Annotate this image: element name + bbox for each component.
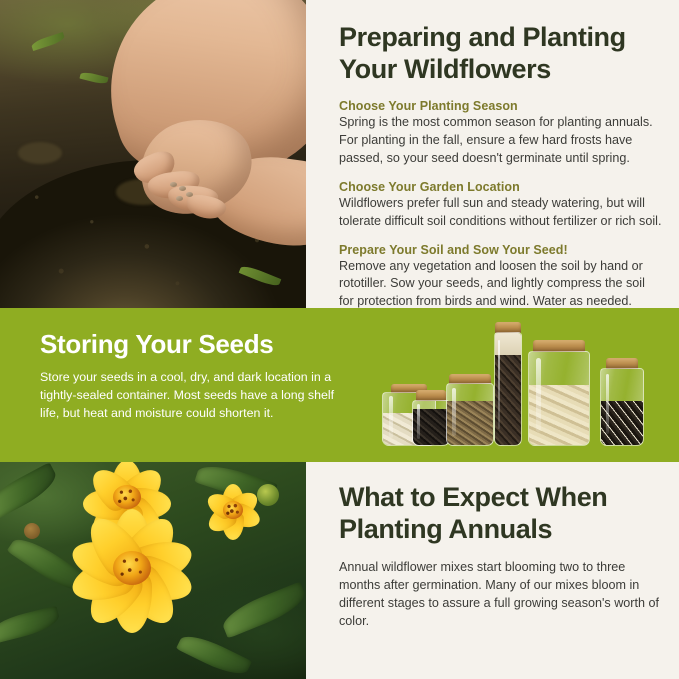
storing-seeds-band: Storing Your Seeds Store your seeds in a… bbox=[0, 308, 679, 462]
glass-highlight bbox=[606, 374, 610, 435]
flower-center bbox=[223, 501, 243, 519]
sowing-seeds-photo bbox=[0, 0, 306, 308]
jar-black-seeds bbox=[412, 390, 450, 446]
expect-panel: What to Expect When Planting Annuals Ann… bbox=[306, 462, 679, 679]
infographic-page: Preparing and Planting Your Wildflowers … bbox=[0, 0, 679, 679]
glass-highlight bbox=[536, 358, 541, 432]
glass-highlight bbox=[452, 388, 456, 437]
disc-florets bbox=[113, 551, 151, 585]
seed-jars-photo bbox=[378, 318, 668, 452]
jar-glass bbox=[528, 351, 590, 446]
storing-body: Store your seeds in a cool, dry, and dar… bbox=[40, 369, 340, 423]
main-bloom bbox=[44, 506, 220, 656]
expect-heading: What to Expect When Planting Annuals bbox=[339, 482, 661, 545]
leaf bbox=[219, 581, 306, 638]
subheading-prepare-soil: Prepare Your Soil and Sow Your Seed! bbox=[339, 243, 663, 257]
jar-glass bbox=[494, 332, 522, 446]
body-prepare-soil: Remove any vegetation and loosen the soi… bbox=[339, 258, 663, 308]
storing-text-group: Storing Your Seeds Store your seeds in a… bbox=[40, 330, 340, 423]
flower-bud bbox=[24, 523, 40, 539]
foliage-background bbox=[0, 462, 306, 679]
storing-heading: Storing Your Seeds bbox=[40, 330, 340, 359]
seed bbox=[170, 182, 177, 187]
seed bbox=[186, 192, 193, 197]
glass-highlight bbox=[498, 340, 500, 430]
flower-center bbox=[113, 551, 151, 585]
subheading-planting-season: Choose Your Planting Season bbox=[339, 99, 663, 113]
body-planting-season: Spring is the most common season for pla… bbox=[339, 114, 663, 168]
glass-highlight bbox=[389, 396, 394, 438]
jar-glass bbox=[446, 383, 494, 446]
coreopsis-flower-photo bbox=[0, 462, 306, 679]
jar-sunflower-seeds bbox=[600, 358, 644, 446]
jar-glass bbox=[600, 368, 644, 446]
body-garden-location: Wildflowers prefer full sun and steady w… bbox=[339, 195, 663, 231]
jar-dark-seeds-tall bbox=[494, 322, 522, 446]
disc-florets bbox=[223, 501, 243, 519]
jar-glass bbox=[412, 400, 450, 446]
expect-body: Annual wildflower mixes start blooming t… bbox=[339, 559, 661, 631]
seed bbox=[176, 196, 183, 201]
soil-background bbox=[0, 0, 306, 308]
jar-brown-millet bbox=[446, 374, 494, 446]
glass-highlight bbox=[417, 404, 420, 439]
preparing-heading: Preparing and Planting Your Wildflowers bbox=[339, 22, 663, 85]
seed bbox=[179, 186, 186, 191]
leaf bbox=[0, 463, 61, 523]
subheading-garden-location: Choose Your Garden Location bbox=[339, 180, 663, 194]
preparing-panel: Preparing and Planting Your Wildflowers … bbox=[306, 0, 679, 308]
jar-pumpkin-seeds bbox=[528, 340, 590, 446]
soil-clod bbox=[18, 142, 62, 164]
